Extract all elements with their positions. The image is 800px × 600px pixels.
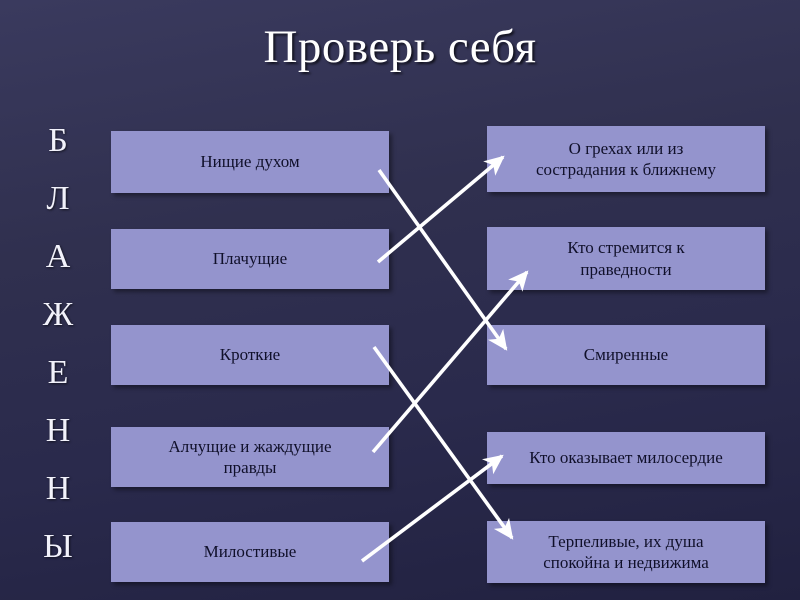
left-item-1-label: Нищие духом (200, 151, 299, 172)
right-item-1-label-line1: О грехах или из (536, 138, 716, 159)
vertical-letter: Б (48, 112, 68, 170)
page-title: Проверь себя (0, 22, 800, 74)
right-item-5[interactable]: Терпеливые, их душа спокойна и недвижима (487, 521, 765, 583)
right-item-4[interactable]: Кто оказывает милосердие (487, 432, 765, 484)
vertical-word-blazhenny: Б Л А Ж Е Н Н Ы (30, 112, 86, 576)
slide-content-layer: Проверь себя Б Л А Ж Е Н Н Ы Нищие духом… (0, 0, 800, 600)
vertical-letter: Ы (43, 518, 73, 576)
right-item-2[interactable]: Кто стремится к праведности (487, 227, 765, 290)
left-item-1[interactable]: Нищие духом (111, 131, 389, 193)
slide-canvas: Проверь себя Б Л А Ж Е Н Н Ы Нищие духом… (0, 0, 800, 600)
left-item-4-label-line2: правды (168, 457, 331, 478)
right-item-2-label-line1: Кто стремится к (567, 237, 684, 258)
left-item-4-label-line1: Алчущие и жаждущие (168, 436, 331, 457)
left-item-3[interactable]: Кроткие (111, 325, 389, 385)
vertical-letter: Ж (43, 286, 73, 344)
vertical-letter: Л (46, 170, 69, 228)
right-item-1[interactable]: О грехах или из сострадания к ближнему (487, 126, 765, 192)
right-item-5-label-line1: Терпеливые, их душа (543, 531, 709, 552)
left-item-3-label: Кроткие (220, 344, 280, 365)
vertical-letter: А (46, 228, 71, 286)
right-item-2-label-line2: праведности (567, 259, 684, 280)
right-item-3[interactable]: Смиренные (487, 325, 765, 385)
left-item-2[interactable]: Плачущие (111, 229, 389, 289)
connector-arrows (0, 0, 800, 600)
right-item-5-label-line2: спокойна и недвижима (543, 552, 709, 573)
right-item-1-label-line2: сострадания к ближнему (536, 159, 716, 180)
vertical-letter: Н (46, 460, 71, 518)
vertical-letter: Е (48, 344, 69, 402)
left-item-2-label: Плачущие (213, 248, 287, 269)
right-item-3-label: Смиренные (584, 344, 668, 365)
left-item-5-label: Милостивые (204, 541, 297, 562)
arrow-left2-to-right1 (378, 157, 503, 262)
right-item-4-label: Кто оказывает милосердие (529, 447, 723, 468)
vertical-letter: Н (46, 402, 71, 460)
left-item-4[interactable]: Алчущие и жаждущие правды (111, 427, 389, 487)
left-item-5[interactable]: Милостивые (111, 522, 389, 582)
